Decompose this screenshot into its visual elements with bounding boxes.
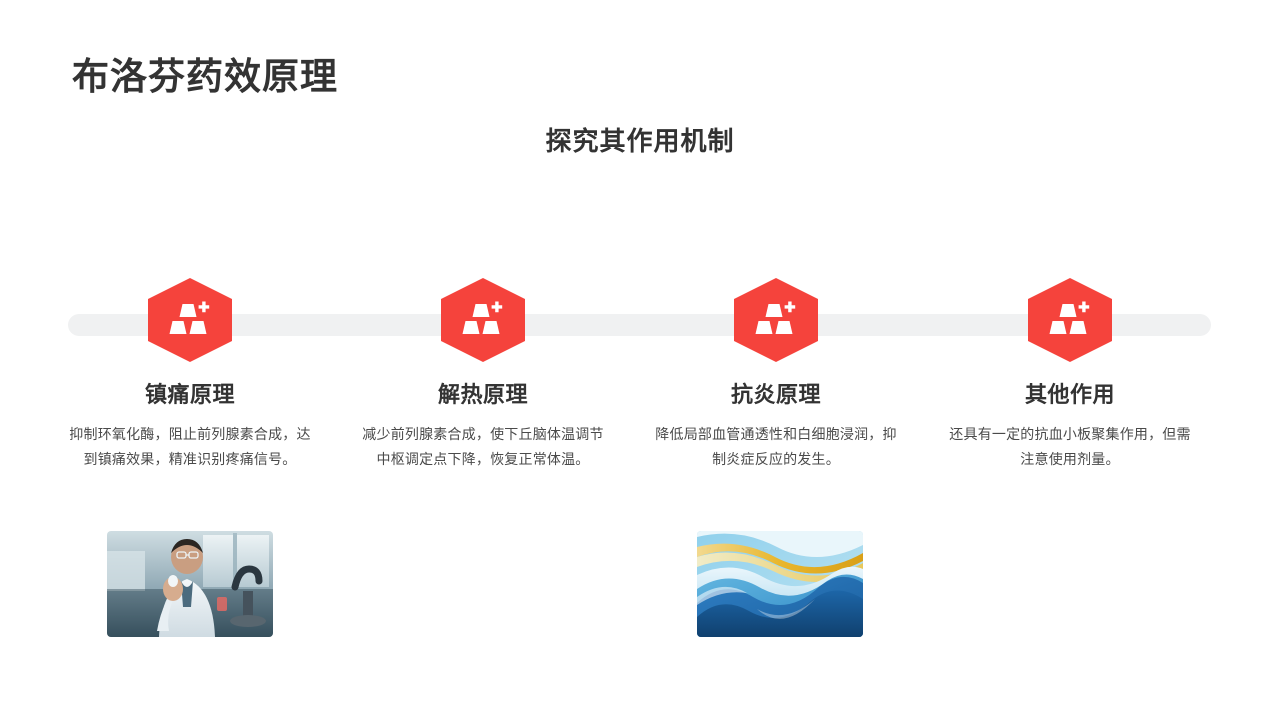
medicine-stack-plus-icon bbox=[441, 278, 525, 362]
step-title: 抗炎原理 bbox=[646, 382, 906, 408]
step-icon-badge[interactable] bbox=[1028, 278, 1112, 362]
step-icon-badge[interactable] bbox=[148, 278, 232, 362]
step-description: 还具有一定的抗血小板聚集作用，但需注意使用剂量。 bbox=[940, 422, 1200, 471]
step-title: 其他作用 bbox=[940, 382, 1200, 408]
step-description: 减少前列腺素合成，使下丘脑体温调节中枢调定点下降，恢复正常体温。 bbox=[353, 422, 613, 471]
timeline-step[interactable]: 抗炎原理 降低局部血管通透性和白细胞浸润，抑制炎症反应的发生。 bbox=[646, 278, 906, 471]
abstract-wave-photo bbox=[697, 531, 863, 637]
step-icon-badge[interactable] bbox=[734, 278, 818, 362]
medicine-stack-plus-icon bbox=[1028, 278, 1112, 362]
step-title: 镇痛原理 bbox=[60, 382, 320, 408]
timeline-step[interactable]: 解热原理 减少前列腺素合成，使下丘脑体温调节中枢调定点下降，恢复正常体温。 bbox=[353, 278, 613, 471]
medicine-stack-plus-icon bbox=[148, 278, 232, 362]
step-title: 解热原理 bbox=[353, 382, 613, 408]
timeline-step[interactable]: 镇痛原理 抑制环氧化酶，阻止前列腺素合成，达到镇痛效果，精准识别疼痛信号。 bbox=[60, 278, 320, 471]
lab-scientist-photo bbox=[107, 531, 273, 637]
medicine-stack-plus-icon bbox=[734, 278, 818, 362]
step-icon-badge[interactable] bbox=[441, 278, 525, 362]
step-description: 降低局部血管通透性和白细胞浸润，抑制炎症反应的发生。 bbox=[646, 422, 906, 471]
step-description: 抑制环氧化酶，阻止前列腺素合成，达到镇痛效果，精准识别疼痛信号。 bbox=[60, 422, 320, 471]
timeline-step[interactable]: 其他作用 还具有一定的抗血小板聚集作用，但需注意使用剂量。 bbox=[940, 278, 1200, 471]
